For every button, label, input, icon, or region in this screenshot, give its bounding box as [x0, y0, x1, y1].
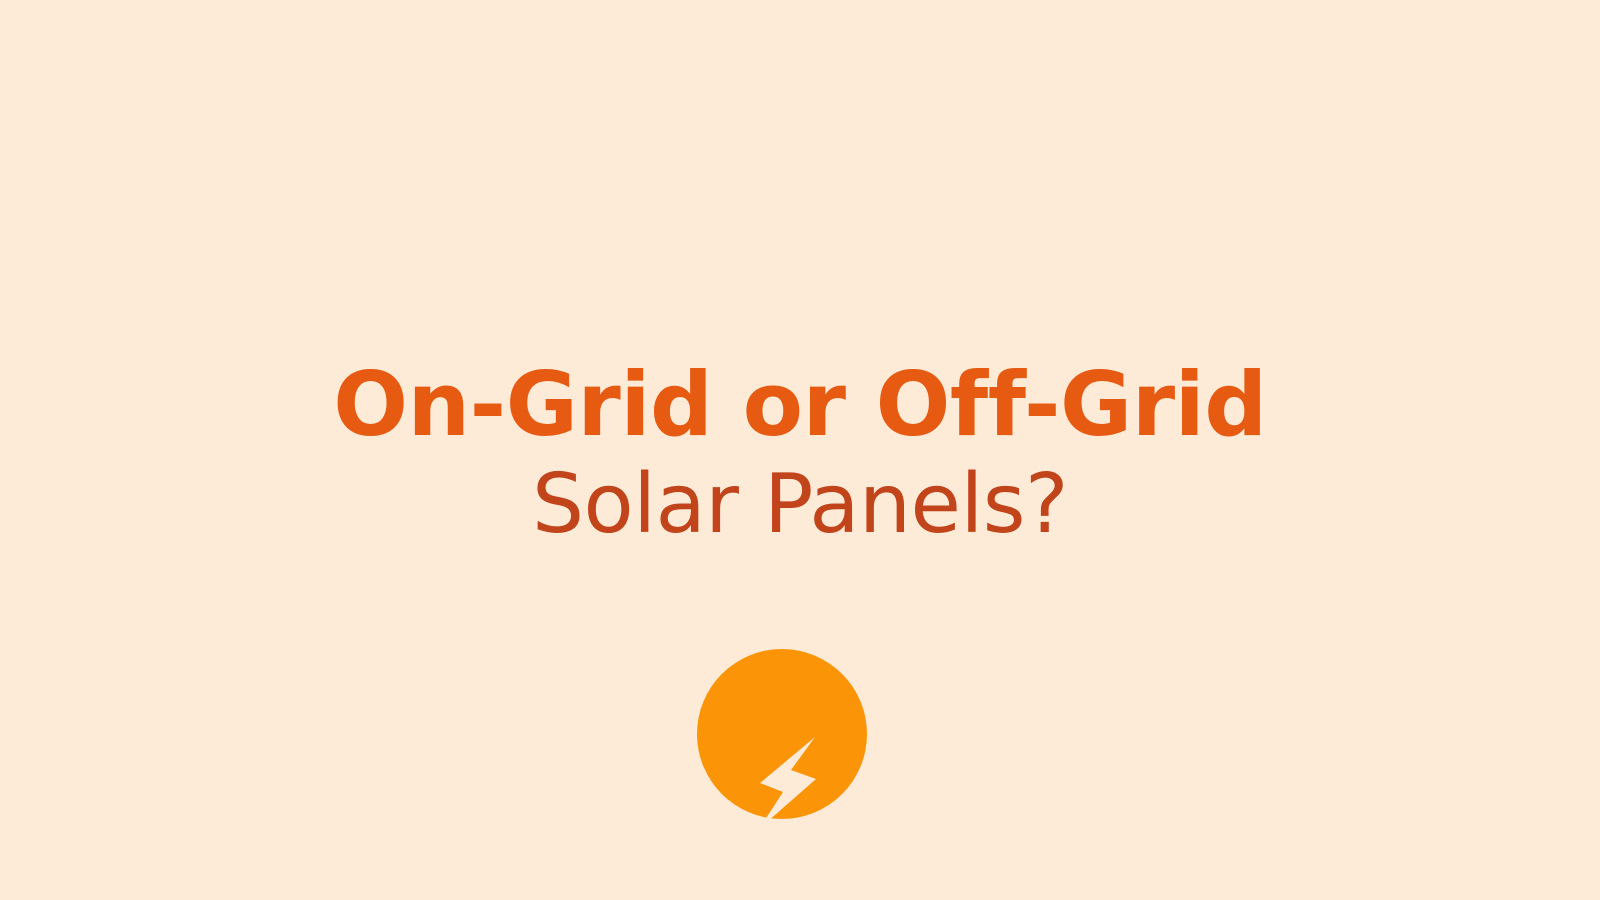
- lightning-badge: [697, 649, 867, 819]
- slide-canvas: On-Grid or Off-Grid Solar Panels?: [0, 0, 1600, 900]
- headline-line-1: On-Grid or Off-Grid: [0, 355, 1600, 455]
- lightning-bolt-icon: [687, 643, 877, 833]
- headline-line-2: Solar Panels?: [0, 457, 1600, 553]
